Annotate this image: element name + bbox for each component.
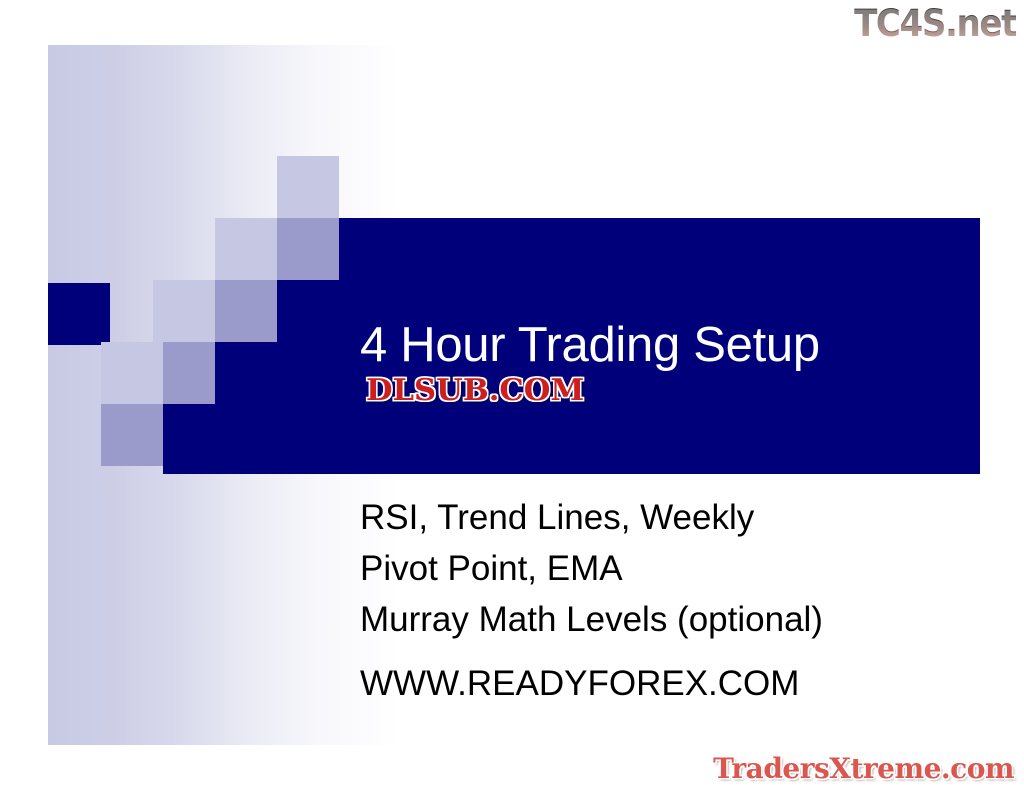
subtitle-line-2: Pivot Point, EMA — [360, 543, 980, 594]
title-banner-step-3 — [163, 404, 215, 474]
mosaic-square-light-1 — [277, 156, 339, 218]
watermark-dlsub: DLSUB.COM — [366, 373, 584, 408]
subtitle-block: RSI, Trend Lines, Weekly Pivot Point, EM… — [360, 492, 980, 709]
watermark-tc4s: TC4S.net — [854, 2, 1016, 45]
mosaic-square-light-4 — [101, 342, 163, 404]
mosaic-square-mid-1 — [277, 218, 339, 280]
slide-canvas: 4 Hour Trading Setup DLSUB.COM RSI, Tren… — [0, 0, 1024, 791]
page-title: 4 Hour Trading Setup — [360, 316, 960, 374]
mosaic-square-mid-2 — [215, 280, 277, 342]
mosaic-square-light-2 — [215, 218, 277, 280]
watermark-tradersxtreme: TradersXtreme.com — [713, 752, 1014, 785]
title-banner-step-2 — [215, 342, 277, 474]
website-url: WWW.READYFOREX.COM — [360, 658, 980, 709]
mosaic-square-navy-1 — [48, 283, 110, 345]
mosaic-square-light-3 — [153, 280, 215, 342]
title-banner-step-1 — [277, 280, 339, 474]
subtitle-line-1: RSI, Trend Lines, Weekly — [360, 492, 980, 543]
subtitle-line-3: Murray Math Levels (optional) — [360, 594, 980, 645]
mosaic-square-mid-4 — [101, 404, 163, 466]
